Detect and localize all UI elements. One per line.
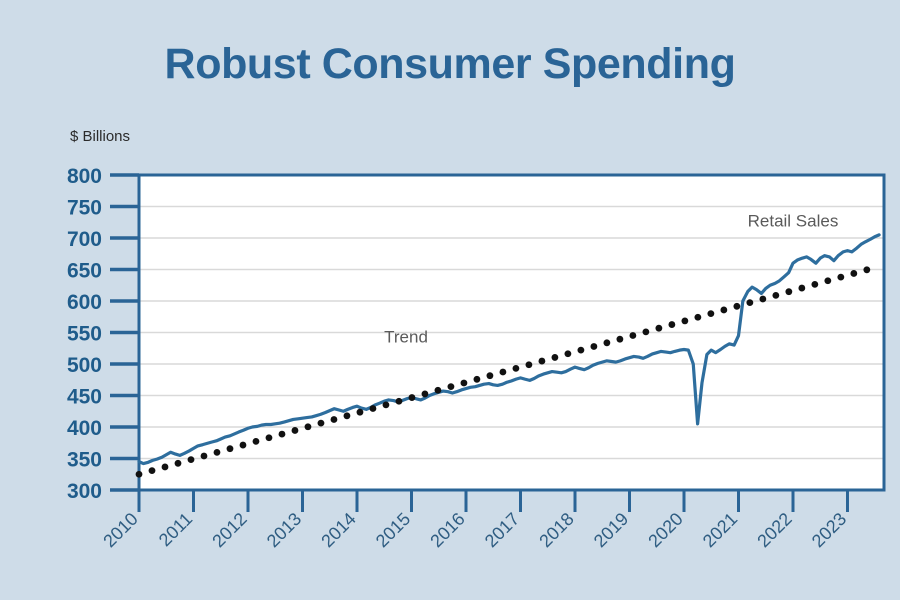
trend-dot (435, 387, 442, 394)
trend-dot (136, 471, 143, 478)
y-tick-label: 750 (67, 197, 102, 220)
trend-dot (772, 292, 779, 299)
trend-dot (266, 434, 273, 441)
trend-dot (655, 325, 662, 332)
trend-dot (370, 405, 377, 412)
x-tick-label: 2018 (535, 509, 577, 551)
trend-dot (149, 467, 156, 474)
x-tick-label: 2021 (699, 509, 741, 551)
trend-dot (500, 369, 507, 376)
trend-dot (642, 328, 649, 335)
trend-dot (707, 310, 714, 317)
y-tick-label: 300 (67, 480, 102, 503)
trend-dot (526, 361, 533, 368)
y-tick-label: 350 (67, 449, 102, 472)
trend-dot (539, 358, 546, 365)
trend-dot (487, 372, 494, 379)
trend-dot (344, 412, 351, 419)
x-tick-label: 2022 (753, 509, 795, 551)
trend-dot (603, 339, 610, 346)
trend-dot (798, 285, 805, 292)
x-tick-label: 2020 (644, 509, 686, 551)
y-tick-label: 800 (67, 165, 102, 188)
x-tick-label: 2010 (99, 509, 141, 551)
trend-dot (694, 314, 701, 321)
trend-dot (461, 380, 468, 387)
y-tick-label: 500 (67, 354, 102, 377)
trend-dot (513, 365, 520, 372)
trend-dot (564, 350, 571, 357)
trend-dot (759, 296, 766, 303)
trend-dot (863, 266, 870, 273)
x-tick-label: 2012 (208, 509, 250, 551)
trend-dot (240, 442, 247, 449)
trend-dot (396, 398, 403, 405)
y-tick-marks-group (110, 175, 139, 490)
trend-dot (357, 409, 364, 416)
trend-series-label: Trend (384, 328, 428, 347)
trend-dot (590, 343, 597, 350)
trend-dot (383, 401, 390, 408)
x-tick-marks-group (139, 490, 847, 512)
y-tick-label: 600 (67, 291, 102, 314)
x-tick-label: 2019 (590, 509, 632, 551)
trend-dot (474, 376, 481, 383)
trend-dot (253, 438, 260, 445)
trend-dot (681, 318, 688, 325)
x-tick-label: 2014 (317, 509, 359, 551)
x-tick-labels-group: 2010201120122013201420152016201720182019… (99, 509, 850, 551)
y-tick-label: 650 (67, 260, 102, 283)
trend-dot (331, 416, 338, 423)
trend-dot (409, 394, 416, 401)
trend-dot (811, 281, 818, 288)
trend-dot (227, 445, 234, 452)
chart-container: Robust Consumer Spending $ Billions 8007… (0, 0, 900, 600)
trend-dot (629, 332, 636, 339)
trend-dot (552, 354, 559, 361)
trend-dot (746, 299, 753, 306)
y-tick-label: 700 (67, 228, 102, 251)
trend-dot (577, 347, 584, 354)
x-tick-label: 2023 (808, 509, 850, 551)
trend-dot (720, 307, 727, 314)
trend-dot (850, 270, 857, 277)
y-tick-label: 450 (67, 386, 102, 409)
x-tick-label: 2011 (155, 509, 197, 551)
trend-dot (214, 449, 221, 456)
trend-dot (292, 427, 299, 434)
trend-dot (733, 303, 740, 310)
trend-dot (305, 423, 312, 430)
trend-dot (422, 391, 429, 398)
trend-dot (824, 277, 831, 284)
x-tick-label: 2013 (263, 509, 305, 551)
x-tick-label: 2016 (426, 509, 468, 551)
y-tick-label: 400 (67, 417, 102, 440)
trend-dot (785, 288, 792, 295)
y-tick-label: 550 (67, 323, 102, 346)
trend-dot (279, 431, 286, 438)
x-tick-label: 2017 (481, 509, 523, 551)
trend-dot (162, 464, 169, 471)
trend-dot (668, 321, 675, 328)
chart-plot-area: 800750700650600550500450400350300 201020… (0, 0, 900, 600)
trend-dot (448, 383, 455, 390)
y-tick-labels-group: 800750700650600550500450400350300 (67, 165, 102, 503)
trend-dot (201, 453, 208, 460)
retail-sales-series-label: Retail Sales (748, 212, 839, 231)
trend-dot (837, 274, 844, 281)
trend-dot (616, 336, 623, 343)
x-tick-label: 2015 (372, 509, 414, 551)
trend-dot (188, 456, 195, 463)
trend-dot (175, 460, 182, 467)
trend-dot (318, 420, 325, 427)
